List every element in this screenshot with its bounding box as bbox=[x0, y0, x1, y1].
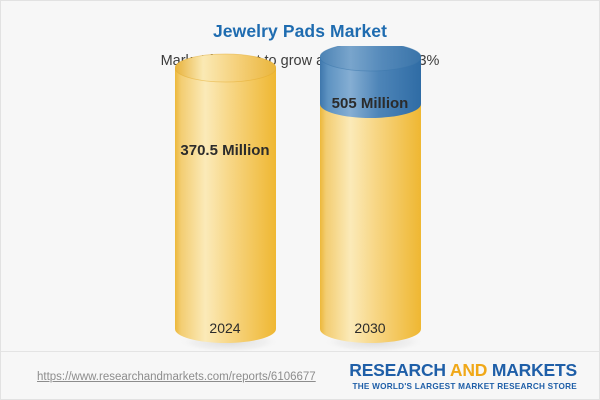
bar-2024-value-label: 370.5 Million bbox=[115, 142, 335, 159]
bar-2024[interactable] bbox=[175, 46, 276, 351]
brand-word-and: AND bbox=[450, 360, 492, 380]
brand-tagline: THE WORLD'S LARGEST MARKET RESEARCH STOR… bbox=[349, 382, 577, 391]
source-url-link[interactable]: https://www.researchandmarkets.com/repor… bbox=[37, 371, 316, 383]
bar-2024-shape bbox=[175, 46, 276, 351]
brand-wordmark: RESEARCH AND MARKETS bbox=[349, 360, 577, 381]
footer: https://www.researchandmarkets.com/repor… bbox=[1, 352, 599, 400]
chart-card: Jewelry Pads Market Market forecast to g… bbox=[0, 0, 600, 400]
brand-logo[interactable]: RESEARCH AND MARKETS THE WORLD'S LARGEST… bbox=[349, 360, 577, 391]
bar-2030-category-label: 2030 bbox=[260, 320, 480, 336]
brand-word-markets: MARKETS bbox=[492, 360, 577, 380]
bar-2030[interactable] bbox=[320, 46, 421, 351]
brand-word-research: RESEARCH bbox=[349, 360, 450, 380]
plot-area: 370.5 Million 2024 bbox=[1, 1, 600, 351]
bar-2030-shape bbox=[320, 46, 421, 351]
bar-2030-value-label: 505 Million bbox=[260, 95, 480, 112]
